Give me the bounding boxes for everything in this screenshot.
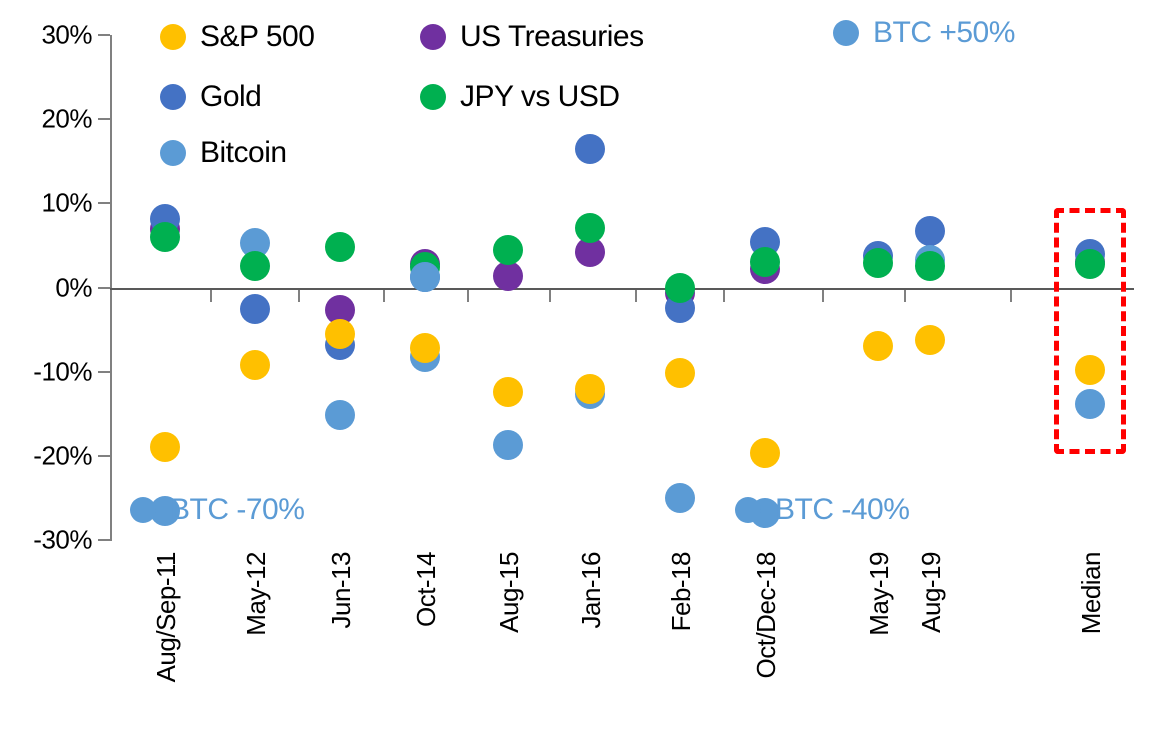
data-point-jpy xyxy=(863,248,893,278)
x-tick-label: Feb-18 xyxy=(666,552,697,631)
y-tick-label: 10% xyxy=(41,188,92,219)
data-point-sp500 xyxy=(240,350,270,380)
legend-swatch-icon xyxy=(160,140,186,166)
annotation-swatch-icon xyxy=(833,20,859,46)
data-point-jpy xyxy=(150,222,180,252)
data-point-sp500 xyxy=(575,374,605,404)
y-tick xyxy=(98,539,110,541)
data-point-bitcoin xyxy=(410,262,440,292)
legend-item[interactable]: Bitcoin xyxy=(160,138,287,168)
legend-swatch-icon xyxy=(420,24,446,50)
y-tick xyxy=(98,455,110,457)
legend-item[interactable]: S&P 500 xyxy=(160,22,314,52)
annotation-btc-up-50: BTC +50% xyxy=(833,18,1015,48)
data-point-bitcoin xyxy=(493,430,523,460)
legend-label: JPY vs USD xyxy=(460,82,620,112)
y-tick xyxy=(98,202,110,204)
y-tick-label: -30% xyxy=(33,525,92,556)
data-point-sp500 xyxy=(1075,355,1105,385)
legend-swatch-icon xyxy=(160,24,186,50)
y-tick-label: -10% xyxy=(33,356,92,387)
annotation-swatch-icon xyxy=(130,497,156,523)
legend-label: Bitcoin xyxy=(200,138,287,168)
legend-item[interactable]: US Treasuries xyxy=(420,22,644,52)
x-tick-label: Oct-14 xyxy=(411,552,442,627)
data-point-sp500 xyxy=(410,333,440,363)
data-point-jpy xyxy=(1075,249,1105,279)
data-point-bitcoin xyxy=(665,483,695,513)
annotation-btc-down-70: BTC -70% xyxy=(130,495,304,525)
data-point-ust xyxy=(493,261,523,291)
y-tick xyxy=(98,287,110,289)
data-point-sp500 xyxy=(750,438,780,468)
legend-item[interactable]: JPY vs USD xyxy=(420,82,620,112)
data-point-bitcoin xyxy=(325,400,355,430)
legend-label: US Treasuries xyxy=(460,22,644,52)
legend-label: Gold xyxy=(200,82,261,112)
y-tick-label: -20% xyxy=(33,440,92,471)
x-tick-label: Jan-16 xyxy=(576,552,607,629)
data-point-gold xyxy=(240,294,270,324)
x-tick-label: Aug/Sep-11 xyxy=(151,552,182,682)
data-point-sp500 xyxy=(150,432,180,462)
data-point-jpy xyxy=(665,273,695,303)
x-tick-label: Jun-13 xyxy=(326,552,357,629)
legend-swatch-icon xyxy=(420,84,446,110)
data-point-sp500 xyxy=(325,319,355,349)
x-tick-label: May-19 xyxy=(864,552,895,636)
data-point-jpy xyxy=(240,251,270,281)
data-point-jpy xyxy=(493,235,523,265)
data-point-sp500 xyxy=(863,331,893,361)
legend-item[interactable]: Gold xyxy=(160,82,261,112)
x-tick-label: May-12 xyxy=(241,552,272,636)
annotation-label: BTC -40% xyxy=(775,495,909,525)
annotation-label: BTC +50% xyxy=(873,18,1015,48)
data-point-jpy xyxy=(915,251,945,281)
data-point-sp500 xyxy=(665,358,695,388)
annotation-btc-down-40: BTC -40% xyxy=(735,495,909,525)
data-point-jpy xyxy=(325,232,355,262)
annotation-swatch-icon xyxy=(735,497,761,523)
scatter-chart: 30%20%10%0%-10%-20%-30% Aug/Sep-11May-12… xyxy=(0,0,1151,739)
x-tick-label: Oct/Dec-18 xyxy=(751,552,782,679)
annotation-label: BTC -70% xyxy=(170,495,304,525)
data-point-bitcoin xyxy=(1075,389,1105,419)
legend-swatch-icon xyxy=(160,84,186,110)
x-tick-label: Aug-15 xyxy=(494,552,525,633)
data-point-jpy xyxy=(750,247,780,277)
data-point-sp500 xyxy=(915,325,945,355)
data-point-sp500 xyxy=(493,377,523,407)
x-tick-label: Aug-19 xyxy=(916,552,947,633)
y-tick-label: 0% xyxy=(55,272,92,303)
data-point-gold xyxy=(915,216,945,246)
data-point-jpy xyxy=(575,213,605,243)
legend-label: S&P 500 xyxy=(200,22,314,52)
x-tick-label: Median xyxy=(1076,552,1107,634)
y-tick xyxy=(98,371,110,373)
